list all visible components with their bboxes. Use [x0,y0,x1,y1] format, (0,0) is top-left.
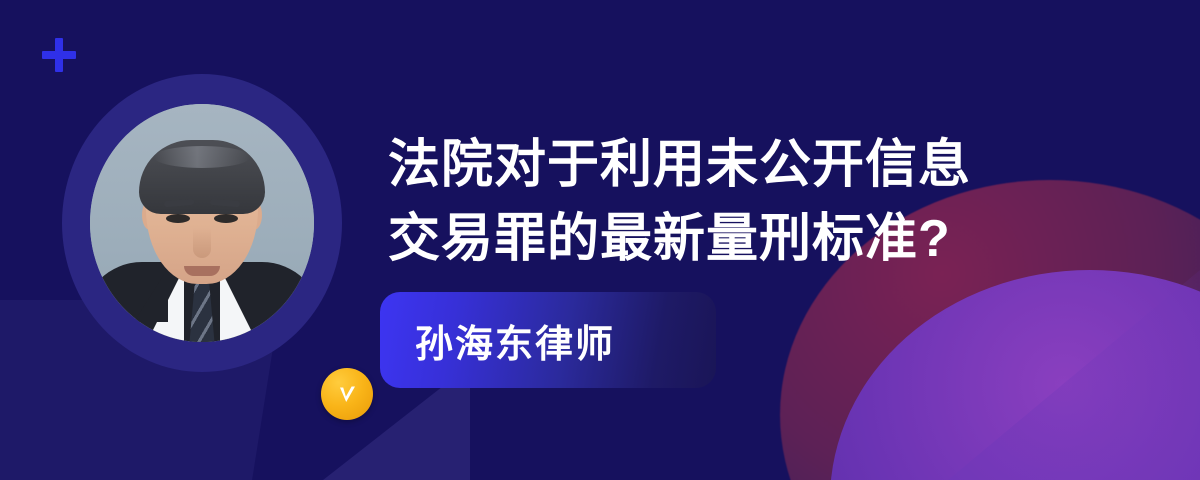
lawyer-question-banner: 法院对于利用未公开信息 交易罪的最新量刑标准? 孙海东律师 [0,0,1200,480]
portrait-eye-left [166,214,190,223]
plus-icon [42,38,76,72]
portrait-hair-highlight [154,146,250,168]
avatar [62,74,342,372]
portrait-necktie [189,284,215,342]
portrait-eye-right [214,214,238,223]
portrait-nose [193,228,211,258]
verified-check-icon [321,368,373,420]
portrait-shirt-right [220,268,260,342]
lawyer-name-label: 孙海东律师 [415,313,615,368]
portrait-mouth [184,266,220,276]
plus-icon-vertical-bar [55,38,63,72]
portrait-collar-left [134,268,168,322]
page-title-line-2: 交易罪的最新量刑标准? [388,202,1088,276]
avatar-photo [90,104,314,342]
lawyer-name-plate: 孙海东律师 [380,292,716,388]
page-title: 法院对于利用未公开信息 交易罪的最新量刑标准? [388,128,1088,276]
page-title-line-1: 法院对于利用未公开信息 [388,128,1088,202]
